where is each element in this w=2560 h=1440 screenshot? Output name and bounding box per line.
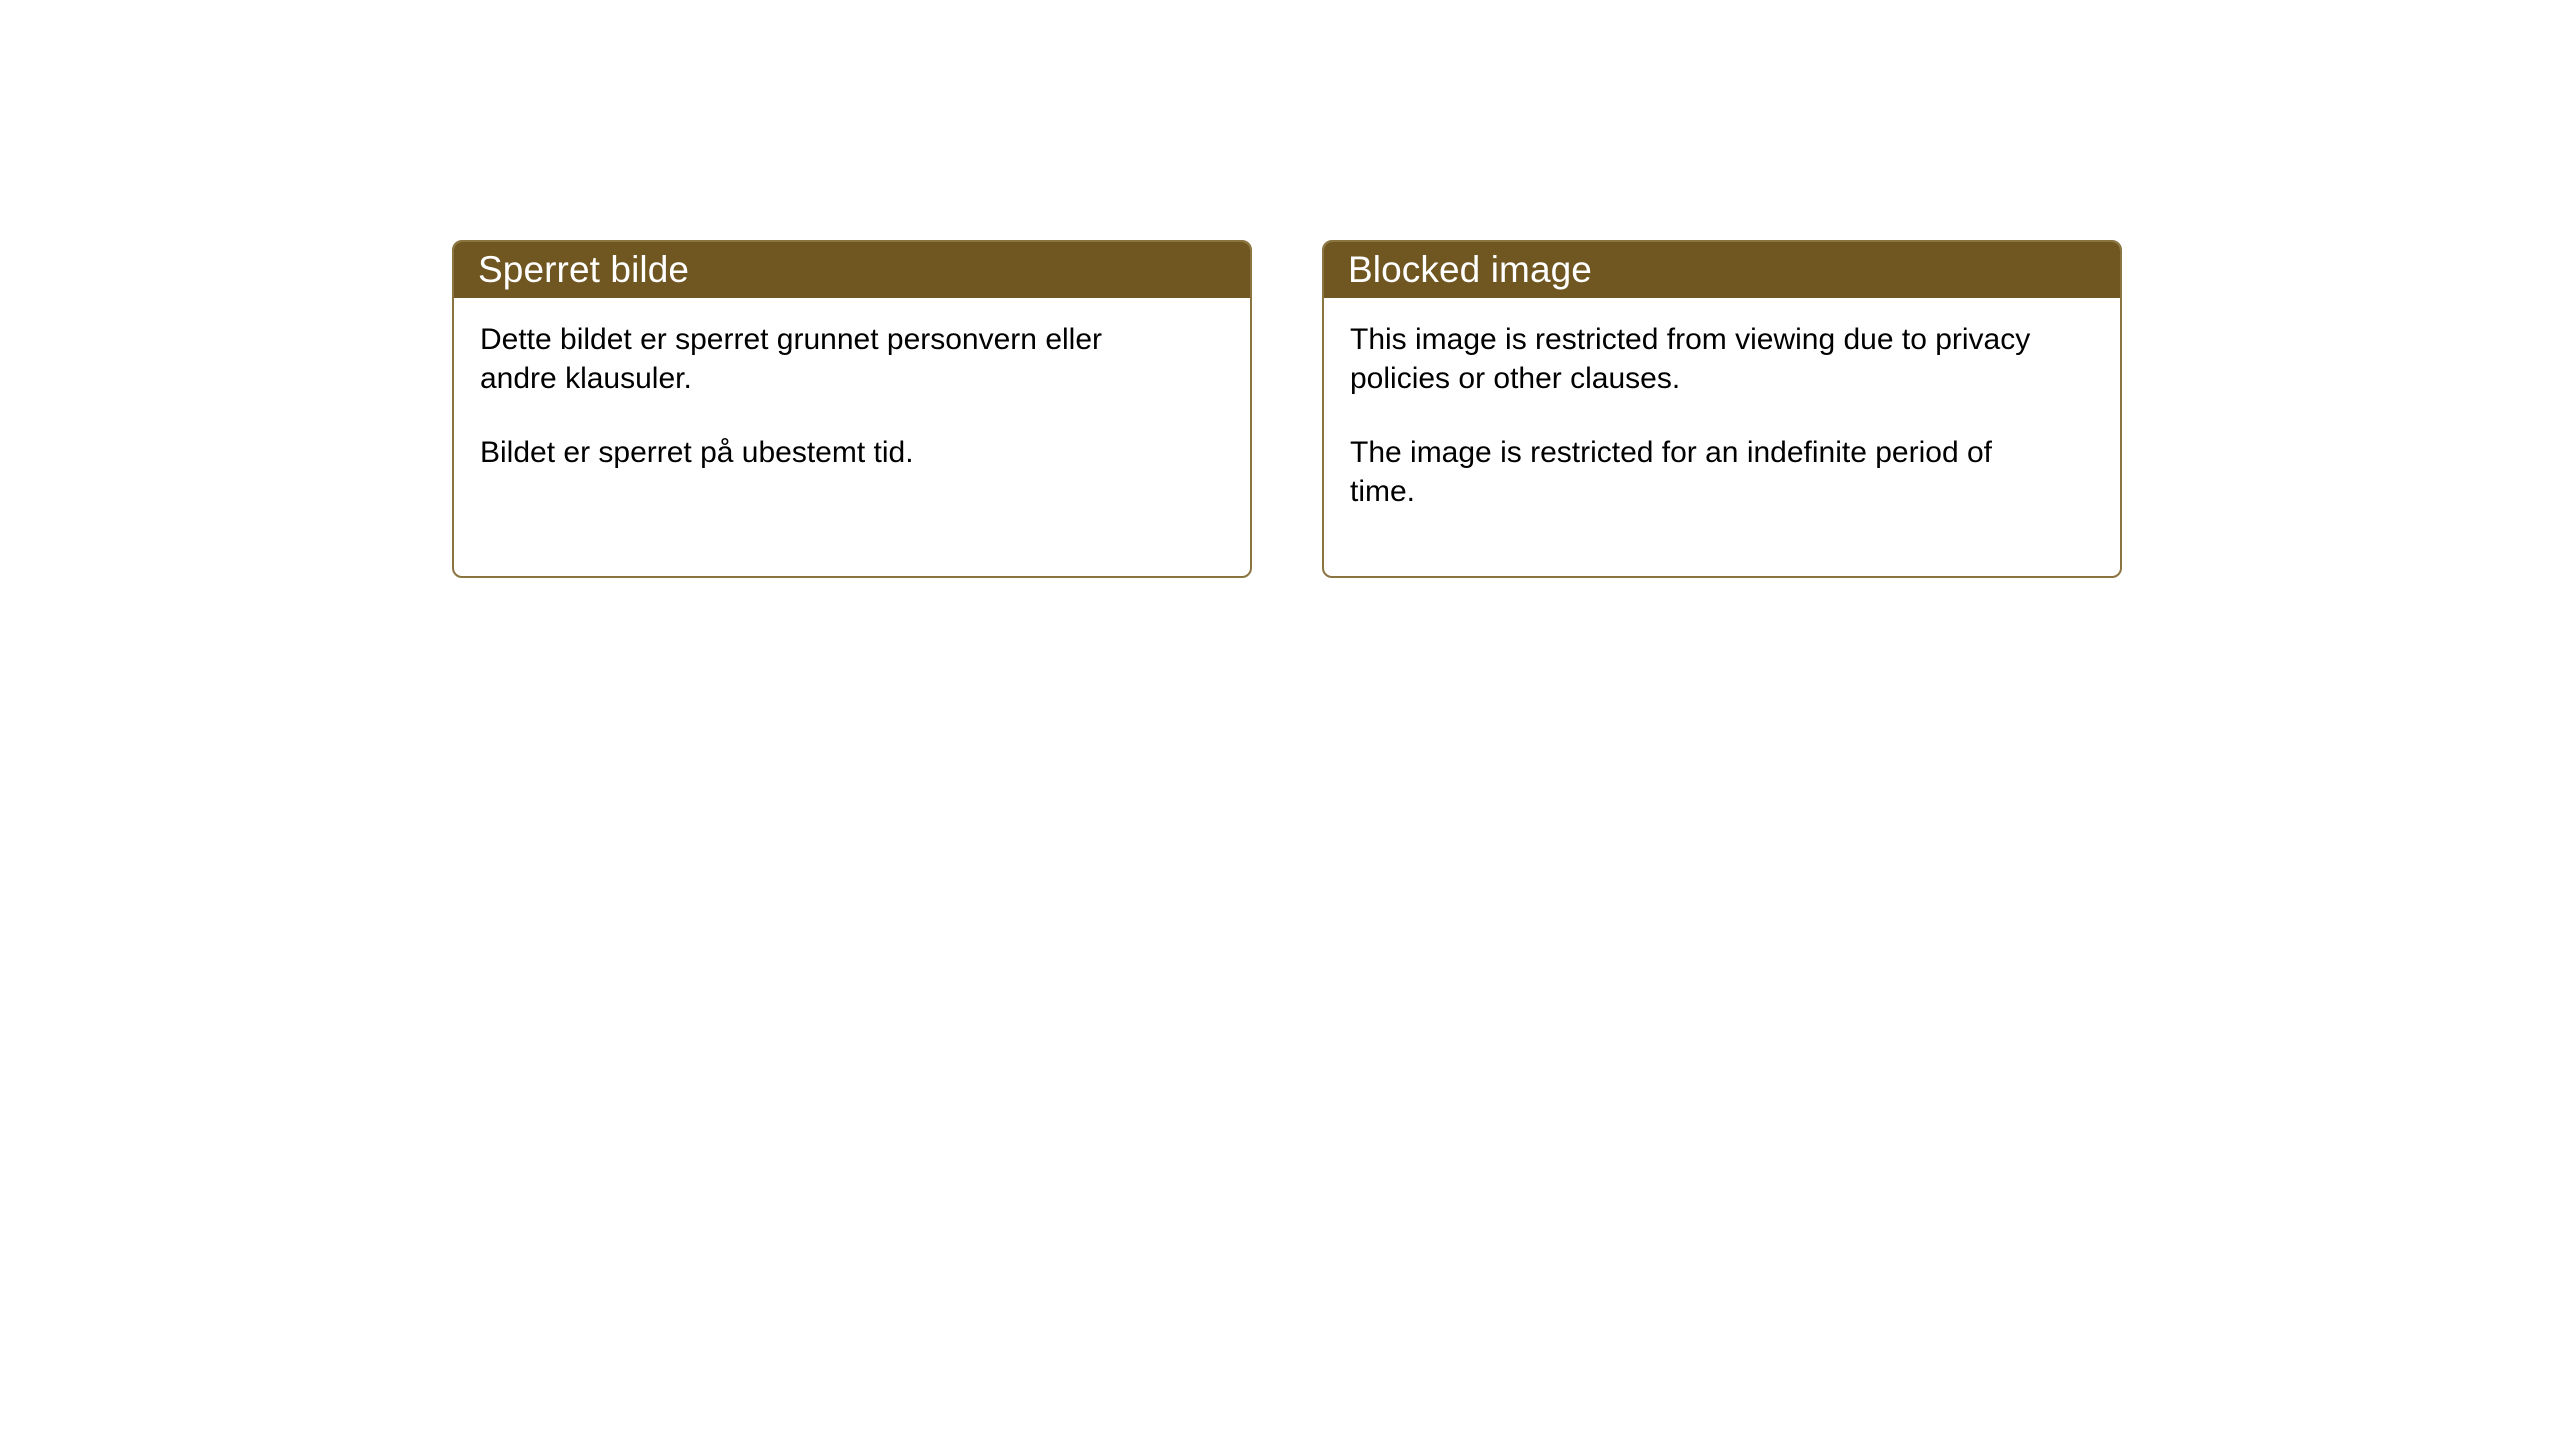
notice-paragraph-secondary-norwegian: Bildet er sperret på ubestemt tid. bbox=[480, 433, 1180, 472]
notice-header-english: Blocked image bbox=[1322, 240, 2122, 298]
notice-body-english: This image is restricted from viewing du… bbox=[1324, 298, 2120, 511]
blocked-image-notice-container: Sperret bilde Dette bildet er sperret gr… bbox=[0, 0, 2560, 1440]
notice-body-norwegian: Dette bildet er sperret grunnet personve… bbox=[454, 298, 1250, 472]
notice-title-norwegian: Sperret bilde bbox=[478, 251, 689, 288]
notice-header-norwegian: Sperret bilde bbox=[452, 240, 1252, 298]
notice-paragraph-secondary-english: The image is restricted for an indefinit… bbox=[1350, 433, 2050, 511]
notice-paragraph-primary-english: This image is restricted from viewing du… bbox=[1350, 320, 2050, 398]
blocked-image-notice-card-norwegian: Sperret bilde Dette bildet er sperret gr… bbox=[452, 240, 1252, 578]
blocked-image-notice-card-english: Blocked image This image is restricted f… bbox=[1322, 240, 2122, 578]
notice-title-english: Blocked image bbox=[1348, 251, 1592, 288]
notice-paragraph-primary-norwegian: Dette bildet er sperret grunnet personve… bbox=[480, 320, 1180, 398]
